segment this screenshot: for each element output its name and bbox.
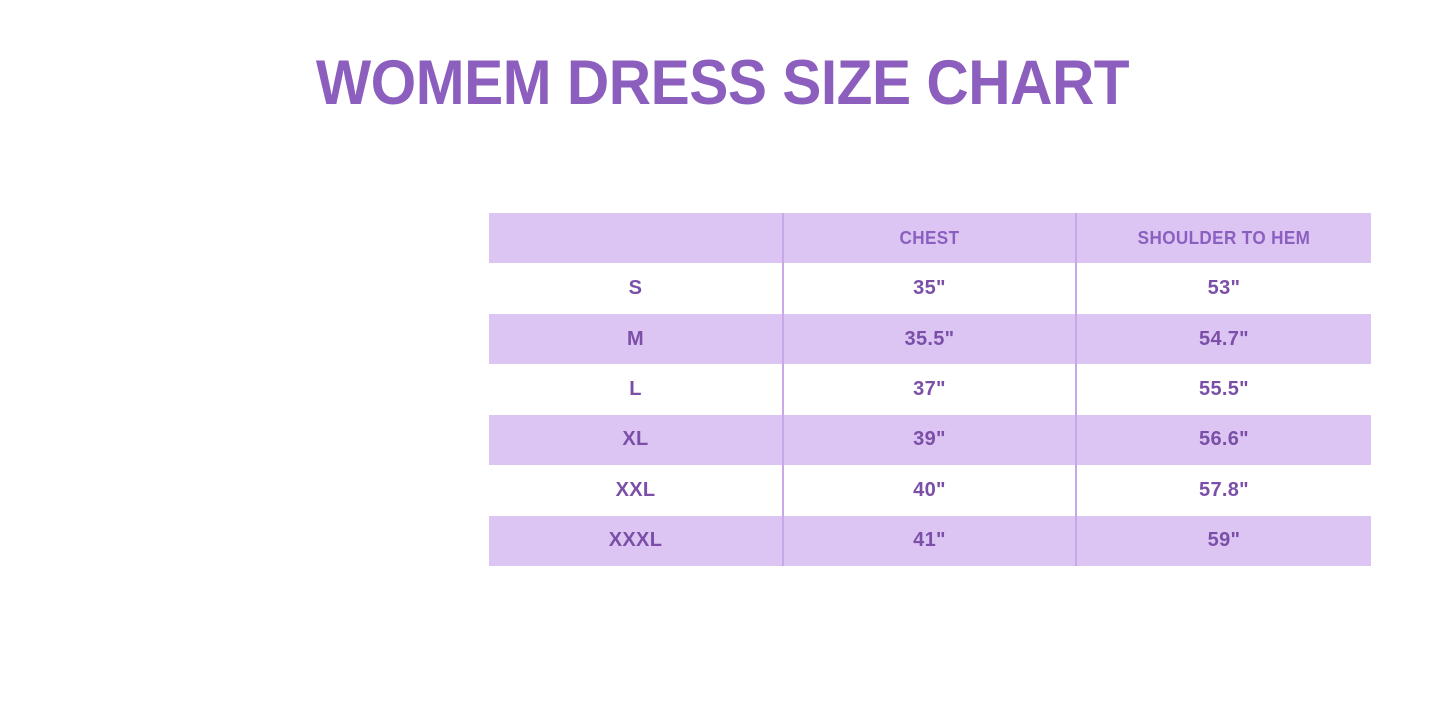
- cell-size: S: [489, 263, 783, 313]
- cell-shoulder: 56.6": [1076, 415, 1371, 465]
- cell-chest: 35": [783, 263, 1076, 313]
- cell-chest: 35.5": [783, 314, 1076, 364]
- cell-chest: 40": [783, 465, 1076, 515]
- cell-chest: 41": [783, 516, 1076, 566]
- cell-chest: 39": [783, 415, 1076, 465]
- column-header-shoulder-to-hem: SHOULDER TO HEM: [1083, 213, 1363, 263]
- cell-shoulder: 55.5": [1076, 364, 1371, 414]
- cell-shoulder: 59": [1076, 516, 1371, 566]
- size-chart-table: CHEST SHOULDER TO HEM S 35" 53" M 35.5" …: [489, 213, 1371, 566]
- table-header-row: CHEST SHOULDER TO HEM: [489, 213, 1371, 263]
- cell-size: XXL: [489, 465, 783, 515]
- cell-size: XL: [489, 415, 783, 465]
- cell-shoulder: 57.8": [1076, 465, 1371, 515]
- size-chart-table-container: CHEST SHOULDER TO HEM S 35" 53" M 35.5" …: [489, 213, 1371, 566]
- cell-chest: 37": [783, 364, 1076, 414]
- cell-size: M: [489, 314, 783, 364]
- table-row: XL 39" 56.6": [489, 415, 1371, 465]
- table-row: S 35" 53": [489, 263, 1371, 313]
- column-header-size: [496, 213, 775, 263]
- cell-shoulder: 53": [1076, 263, 1371, 313]
- cell-size: L: [489, 364, 783, 414]
- cell-size: XXXL: [489, 516, 783, 566]
- table-row: XXXL 41" 59": [489, 516, 1371, 566]
- page-title: WOMEM DRESS SIZE CHART: [51, 52, 1395, 115]
- column-header-chest: CHEST: [790, 213, 1068, 263]
- table-row: M 35.5" 54.7": [489, 314, 1371, 364]
- table-row: XXL 40" 57.8": [489, 465, 1371, 515]
- cell-shoulder: 54.7": [1076, 314, 1371, 364]
- table-row: L 37" 55.5": [489, 364, 1371, 414]
